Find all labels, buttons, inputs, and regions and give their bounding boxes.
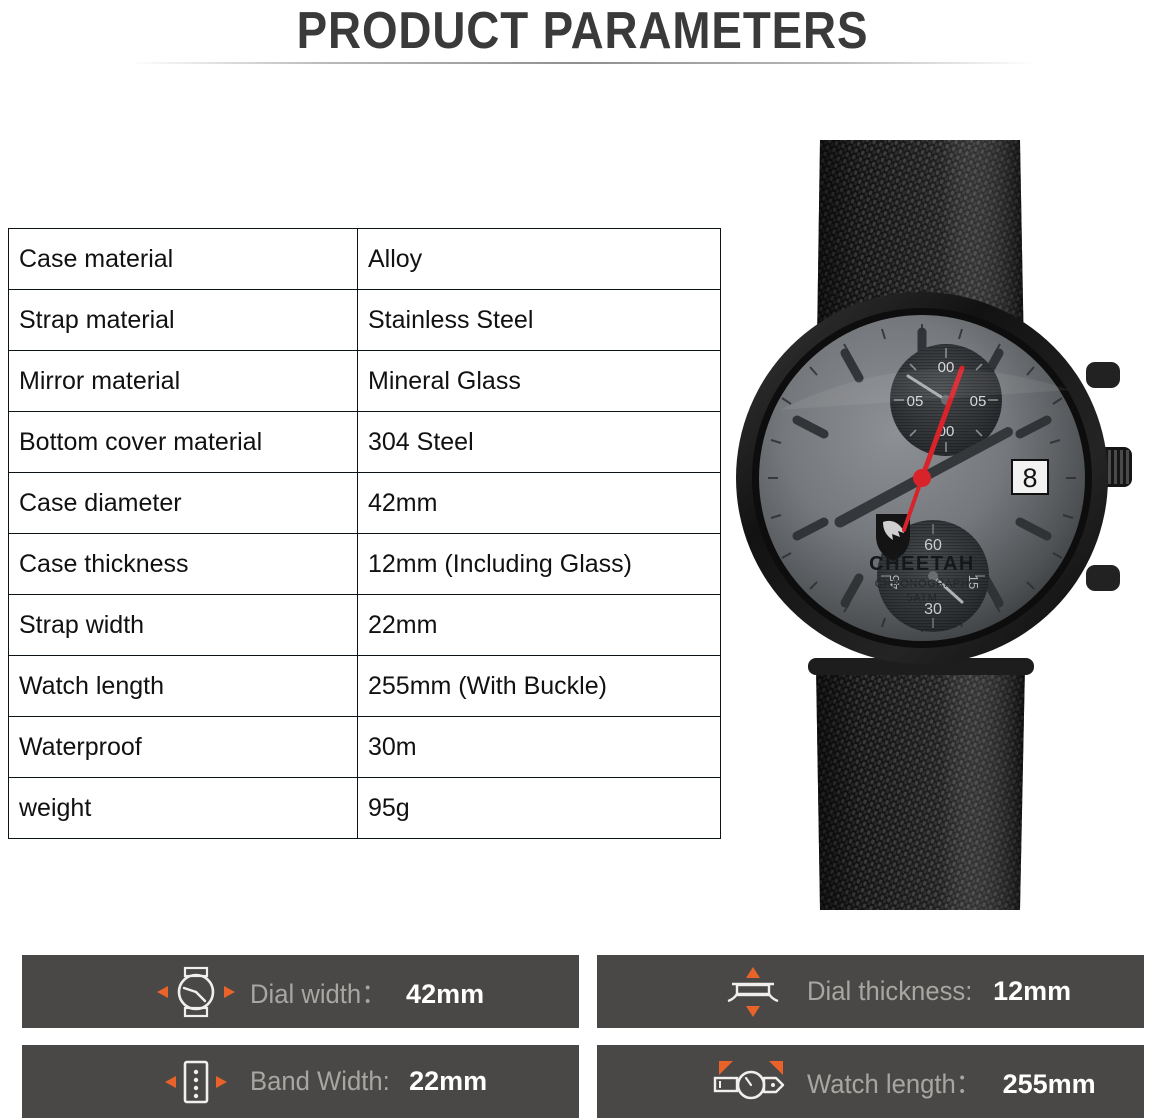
table-row: Case thickness 12mm (Including Glass): [9, 534, 721, 595]
feature-strip-band-width: Band Width: 22mm: [22, 1045, 579, 1118]
watch-pusher-top: [1086, 362, 1120, 388]
date-window-value: 8: [1022, 463, 1037, 493]
spec-key: Watch length: [9, 656, 358, 717]
table-row: Bottom cover material 304 Steel: [9, 412, 721, 473]
brand-water-resistance: 5ATM: [907, 592, 938, 604]
brand-name: CHEETAH: [869, 553, 975, 575]
spec-key: Strap width: [9, 595, 358, 656]
spec-key: Case thickness: [9, 534, 358, 595]
hands-center-cap: [913, 469, 931, 487]
feature-strip-dial-width: Dial width： 42mm: [22, 955, 579, 1028]
table-row: Mirror material Mineral Glass: [9, 351, 721, 412]
table-row: Watch length 255mm (With Buckle): [9, 656, 721, 717]
spec-value: 304 Steel: [358, 412, 721, 473]
watch-product-photo: 00 00 05 05 60 30 15 45: [690, 110, 1165, 930]
watch-pusher-bottom: [1086, 565, 1120, 591]
table-row: Strap width 22mm: [9, 595, 721, 656]
feature-label: Dial width：: [250, 972, 387, 1011]
feature-strips: Dial width： 42mm Dial thickness: 12mm: [22, 955, 1144, 1118]
spec-key: Bottom cover material: [9, 412, 358, 473]
spec-key: weight: [9, 778, 358, 839]
page-header: PRODUCT PARAMETERS: [0, 0, 1165, 72]
spec-value: 95g: [358, 778, 721, 839]
feature-value: 12mm: [993, 976, 1071, 1007]
feature-strip-watch-length: Watch length： 255mm: [597, 1045, 1144, 1118]
spec-key: Case diameter: [9, 473, 358, 534]
feature-strip-dial-thickness: Dial thickness: 12mm: [597, 955, 1144, 1028]
feature-strip-text: Dial thickness: 12mm: [807, 976, 1071, 1007]
spec-value: 22mm: [358, 595, 721, 656]
watch-face-icon: [148, 964, 244, 1020]
title-divider: [130, 62, 1035, 64]
feature-strip-text: Dial width： 42mm: [250, 972, 484, 1011]
spec-value: Alloy: [358, 229, 721, 290]
spec-value: 12mm (Including Glass): [358, 534, 721, 595]
feature-strip-text: Band Width: 22mm: [250, 1066, 487, 1097]
spec-value: 42mm: [358, 473, 721, 534]
watch-strap-lower: [816, 666, 1025, 910]
spec-table-body: Case material Alloy Strap material Stain…: [9, 229, 721, 839]
feature-strip-text: Watch length： 255mm: [807, 1062, 1096, 1101]
feature-label: Watch length：: [807, 1062, 981, 1101]
watch-length-icon: [705, 1054, 801, 1110]
table-row: Waterproof 30m: [9, 717, 721, 778]
spec-value: 255mm (With Buckle): [358, 656, 721, 717]
feature-value: 255mm: [1003, 1069, 1096, 1100]
table-row: Case diameter 42mm: [9, 473, 721, 534]
feature-value: 22mm: [409, 1066, 487, 1097]
spec-value: Stainless Steel: [358, 290, 721, 351]
feature-label: Dial thickness:: [807, 976, 972, 1007]
spec-key: Case material: [9, 229, 358, 290]
subdial-bottom-label-60: 60: [924, 537, 942, 554]
spec-table: Case material Alloy Strap material Stain…: [8, 228, 721, 839]
watch-side-profile-icon: [705, 964, 801, 1020]
feature-value: 42mm: [406, 979, 484, 1010]
product-parameters-page: PRODUCT PARAMETERS Case material Alloy S…: [0, 0, 1165, 1118]
feature-label: Band Width:: [250, 1066, 390, 1097]
table-row: weight 95g: [9, 778, 721, 839]
watch-band-icon: [148, 1054, 244, 1110]
date-window: 8: [1012, 460, 1048, 494]
table-row: Strap material Stainless Steel: [9, 290, 721, 351]
spec-value: Mineral Glass: [358, 351, 721, 412]
spec-key: Waterproof: [9, 717, 358, 778]
page-title: PRODUCT PARAMETERS: [70, 2, 1095, 60]
table-row: Case material Alloy: [9, 229, 721, 290]
spec-key: Strap material: [9, 290, 358, 351]
brand-subtitle: CHRONOGRAPH: [875, 578, 970, 590]
spec-value: 30m: [358, 717, 721, 778]
spec-key: Mirror material: [9, 351, 358, 412]
